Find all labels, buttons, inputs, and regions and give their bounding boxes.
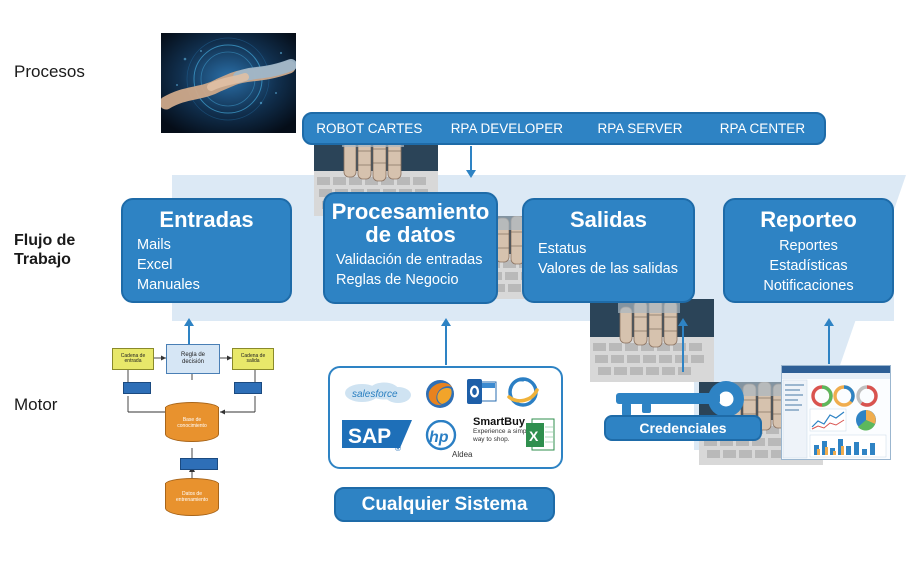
excel-logo: X [526,418,556,452]
arrow-salidas-line [682,324,684,372]
decision-bar-right [234,382,262,394]
cualquier-sistema-box[interactable]: Cualquier Sistema [334,487,555,522]
entradas-item-2: Manuales [137,275,290,295]
svg-text:SAP: SAP [348,425,391,448]
salidas-item-0: Estatus [538,239,693,259]
salesforce-logo: salesforce [342,380,414,406]
row-label-procesos-text: Procesos [14,62,85,81]
arrow-reporteo-line [828,324,830,364]
row-label-flujo-line1: Flujo de [14,231,75,250]
cualquier-sistema-label: Cualquier Sistema [362,494,528,516]
decision-training-data-node: Datos de entrenamiento [165,478,219,526]
decision-input-node: Cadena de entrada [112,348,154,370]
reporteo-items: Reportes Estadísticas Notificaciones [725,231,892,296]
decision-kb-label-l2: conocimiento [165,424,219,430]
row-label-motor-text: Motor [14,395,57,414]
decision-knowledge-base-node: Base de conocimiento [165,402,219,450]
svg-text:salesforce: salesforce [352,389,398,400]
procesamiento-item-1: Reglas de Negocio [336,270,496,290]
decision-input-label-l2: entrada [121,359,145,365]
hp-logo: hp Aldea [424,420,458,452]
decision-rule-label-l2: decisión [181,359,205,366]
salidas-title: Salidas [524,200,693,231]
procesamiento-items: Validación de entradas Reglas de Negocio [325,246,496,290]
robots-label-bar: ROBOT CARTES RPA DEVELOPER RPA SERVER RP… [302,112,826,145]
svg-text:hp: hp [429,429,449,446]
procesamiento-title: Procesamiento de datos [325,194,496,246]
robot-cartes-label[interactable]: ROBOT CARTES [304,121,435,136]
arrow-procesamiento-line [445,324,447,365]
decision-output-node: Cadena de salida [232,348,274,370]
procesamiento-item-0: Validación de entradas [336,250,496,270]
rpa-center-label[interactable]: RPA CENTER [701,121,824,136]
procesamiento-title-line2: de datos [325,223,496,246]
entradas-item-1: Excel [137,255,290,275]
salidas-items: Estatus Valores de las salidas [524,231,693,279]
decision-rule-node: Regla de decisión [166,344,220,374]
salidas-item-1: Valores de las salidas [538,259,693,279]
workflow-box-salidas[interactable]: Salidas Estatus Valores de las salidas [522,198,695,303]
workflow-box-reporteo[interactable]: Reporteo Reportes Estadísticas Notificac… [723,198,894,303]
sap-registered-mark: ® [395,444,401,453]
row-label-flujo-line2: Trabajo [14,250,75,269]
arrow-robots-to-workflow-head [466,170,476,178]
entradas-title: Entradas [123,200,290,231]
reporteo-item-0: Reportes [725,236,892,256]
diagram-canvas: Procesos Flujo de Trabajo Motor [0,0,907,561]
entradas-items: Mails Excel Manuales [123,231,290,295]
reporteo-title: Reporteo [725,200,892,231]
row-label-procesos: Procesos [14,62,85,82]
row-label-motor: Motor [14,395,57,415]
report-dashboard-thumbnail [781,365,891,460]
decision-bar-left [123,382,151,394]
firefox-logo [423,376,457,410]
outlook-logo [467,379,497,405]
decision-output-label-l2: salida [241,359,265,365]
sap-logo: SAP ® [342,418,416,452]
aldea-label: Aldea [452,450,472,459]
rpa-server-label[interactable]: RPA SERVER [579,121,701,136]
arrow-salidas-head [678,318,688,326]
decision-bar-bottom [180,458,218,470]
procesamiento-title-line1: Procesamiento [325,200,496,223]
credenciales-label: Credenciales [639,420,726,436]
credenciales-pill[interactable]: Credenciales [604,415,762,441]
arrow-procesamiento-head [441,318,451,326]
entradas-item-0: Mails [137,235,290,255]
robot-hand-keyboard-photo-3 [590,299,714,382]
workflow-box-procesamiento[interactable]: Procesamiento de datos Validación de ent… [323,192,498,304]
arrow-reporteo-head [824,318,834,326]
arrow-robots-to-workflow [470,146,472,172]
decision-rule-diagram: Cadena de entrada Regla de decisión Cade… [110,340,310,515]
workflow-box-entradas[interactable]: Entradas Mails Excel Manuales [121,198,292,303]
internet-explorer-logo [506,376,540,408]
rpa-developer-label[interactable]: RPA DEVELOPER [435,121,579,136]
svg-text:X: X [529,428,539,444]
human-robot-handshake-photo [161,33,296,133]
reporteo-item-2: Notificaciones [725,276,892,296]
decision-training-label-l2: entrenamiento [165,498,219,504]
arrow-entradas-head [184,318,194,326]
systems-logos-panel[interactable]: salesforce [328,366,563,469]
row-label-flujo-trabajo: Flujo de Trabajo [14,231,75,269]
decision-rule-label-l1: Regla de [181,352,205,359]
reporteo-item-1: Estadísticas [725,256,892,276]
